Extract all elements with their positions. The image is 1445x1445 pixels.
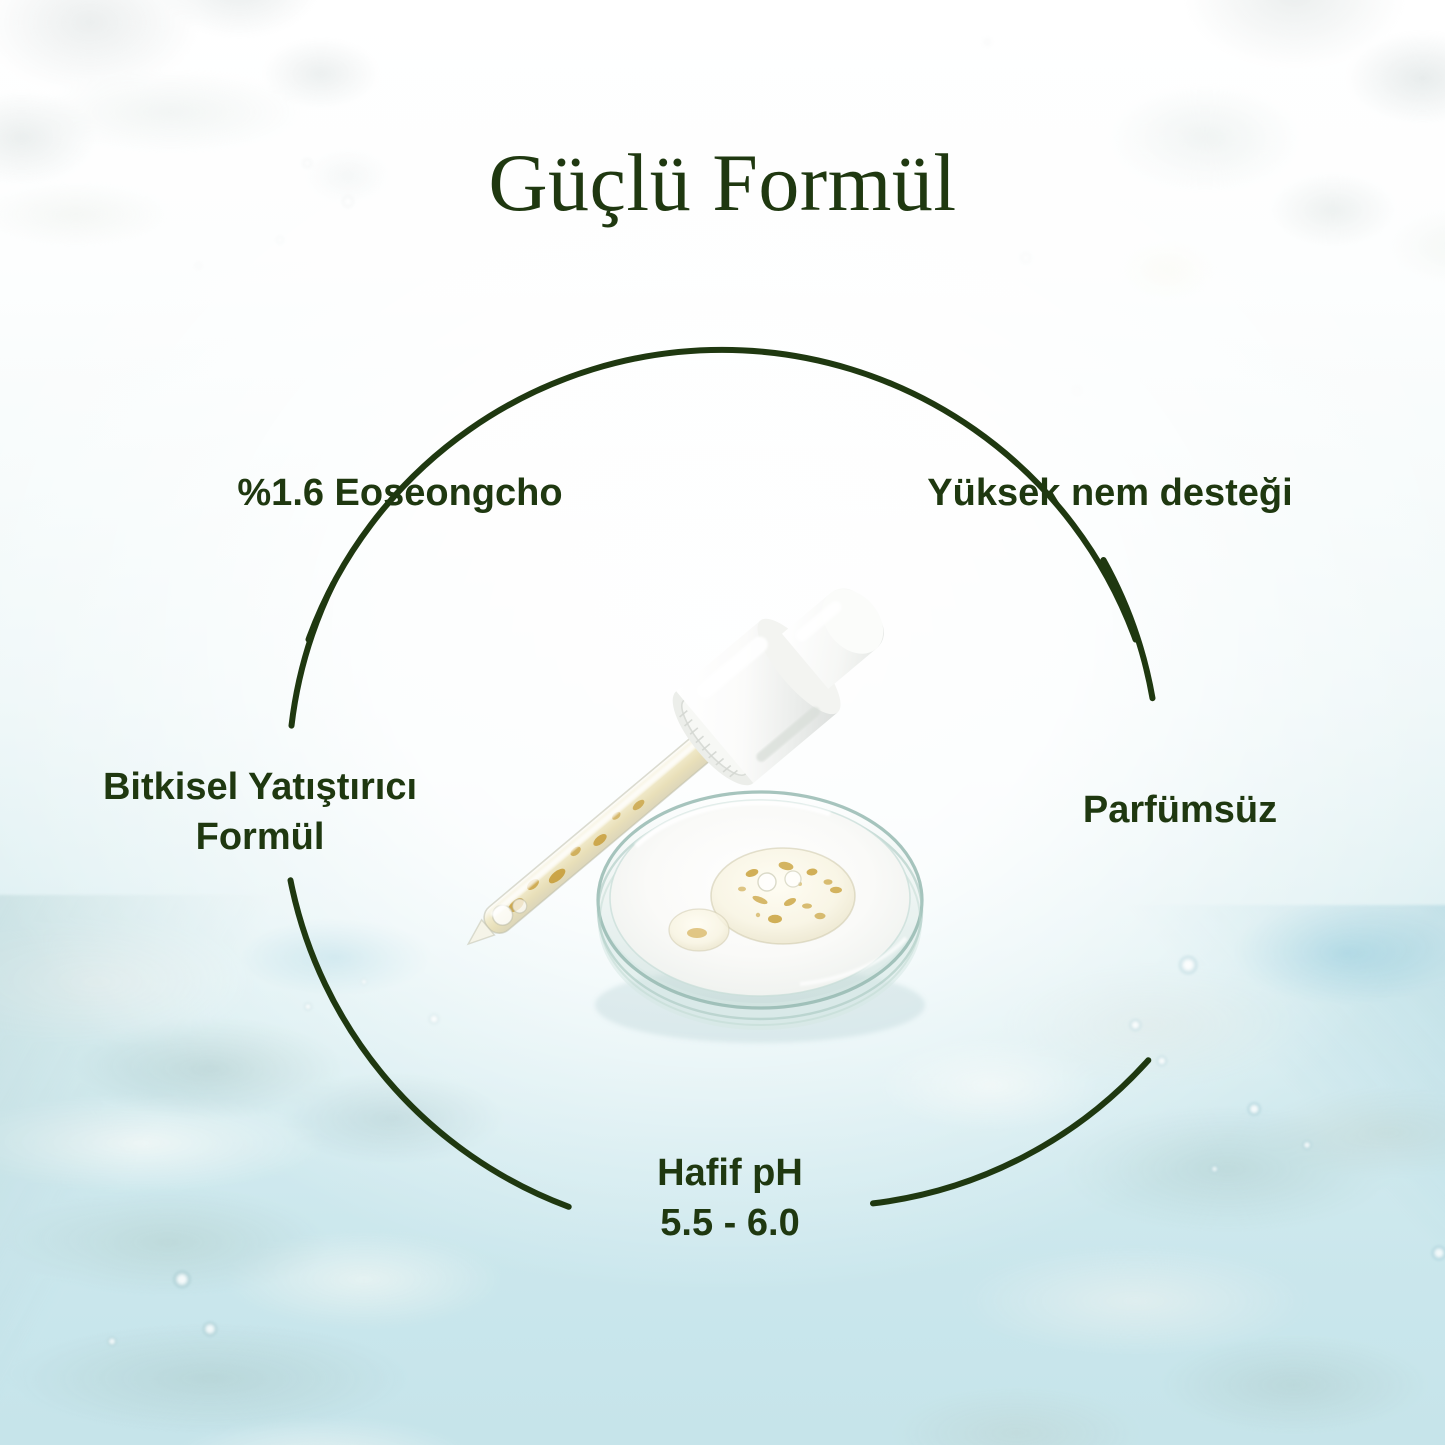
infographic-canvas: Güçlü Formül [0,0,1445,1445]
feature-label-bitkisel: Bitkisel Yatıştırıcı Formül [20,762,500,862]
feature-label-nem: Yüksek nem desteği [830,468,1390,518]
feature-label-ph: Hafif pH 5.5 - 6.0 [560,1148,900,1248]
serum-droplet-small [669,909,729,951]
feature-label-eoseongcho: %1.6 Eoseongcho [120,468,680,518]
petri-dish [598,792,922,1030]
serum-droplet-large [711,848,855,944]
feature-label-parfumsuz: Parfümsüz [960,785,1400,835]
